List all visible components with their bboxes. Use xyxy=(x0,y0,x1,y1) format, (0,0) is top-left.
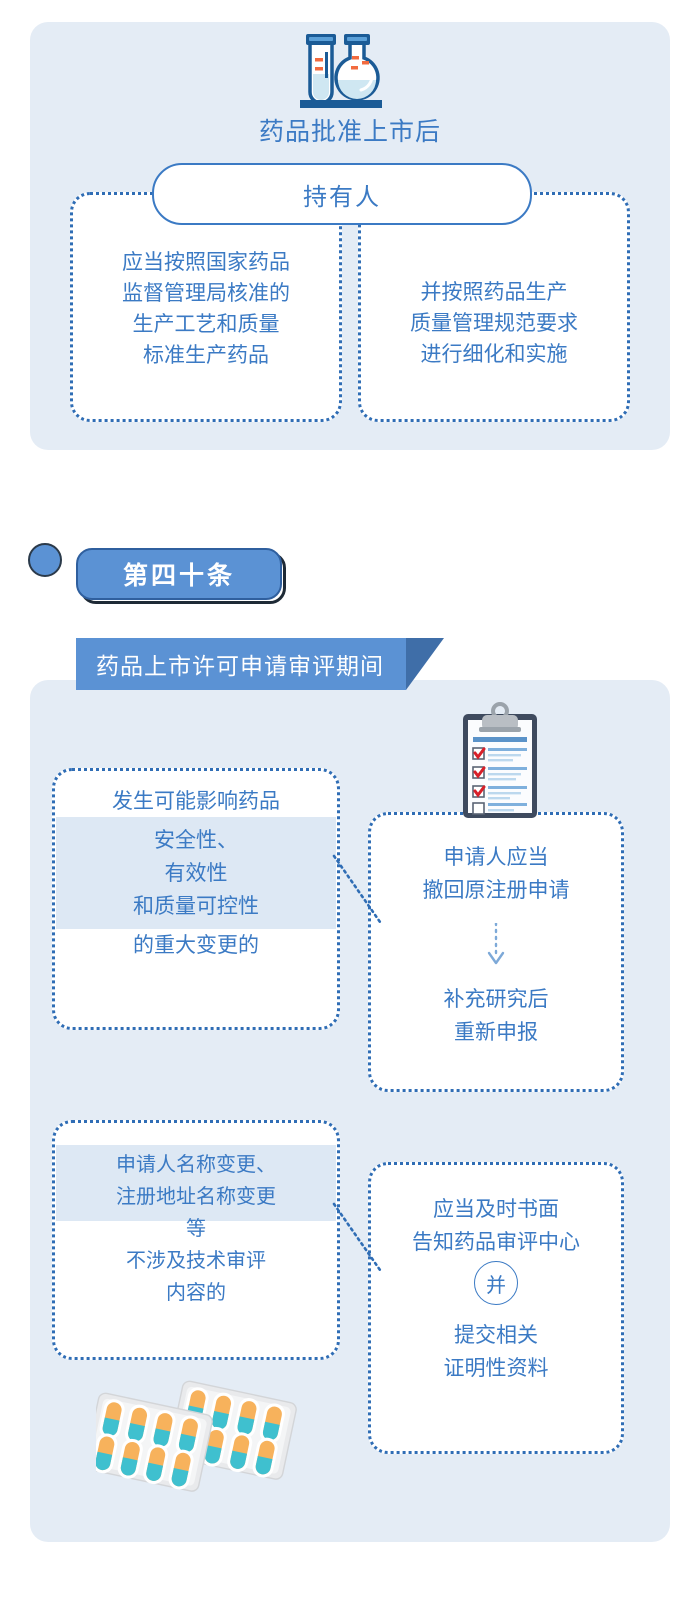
section-one-left-text: 应当按照国家药品 监督管理局核准的 生产工艺和质量 标准生产药品 xyxy=(73,247,339,371)
text-line: 注册地址名称变更 xyxy=(55,1181,337,1213)
text-line: 应当及时书面 xyxy=(371,1193,621,1226)
text-line: 标准生产药品 xyxy=(73,340,339,371)
text-line: 和质量可控性 xyxy=(55,890,337,923)
section-one-title: 药品批准上市后 xyxy=(30,112,670,148)
text-line: 安全性、 xyxy=(55,824,337,857)
circled-conjunction: 并 xyxy=(474,1261,518,1305)
dotted-down-arrow-icon xyxy=(371,923,621,967)
text-line: 提交相关 xyxy=(371,1319,621,1352)
test-tube-flask-icon xyxy=(292,30,388,110)
text-line: 重新申报 xyxy=(371,1016,621,1049)
text-line: 等 xyxy=(55,1213,337,1245)
box-notify-center: 应当及时书面 告知药品审评中心 并 提交相关 证明性资料 xyxy=(368,1162,624,1454)
clipboard-checklist-icon xyxy=(455,700,545,822)
text-line: 应当按照国家药品 xyxy=(73,247,339,278)
article-badge: 第四十条 xyxy=(76,548,282,600)
section-one-right-text: 并按照药品生产 质量管理规范要求 进行细化和实施 xyxy=(361,277,627,370)
section-one-right-box: 并按照药品生产 质量管理规范要求 进行细化和实施 xyxy=(358,192,630,422)
text-line: 补充研究后 xyxy=(371,983,621,1016)
section-two-banner: 药品上市许可申请审评期间 xyxy=(76,638,444,690)
text-line: 申请人应当 xyxy=(371,841,621,874)
text-line: 进行细化和实施 xyxy=(361,339,627,370)
text-line: 证明性资料 xyxy=(371,1352,621,1385)
text-line: 申请人名称变更、 xyxy=(55,1149,337,1181)
text-line: 发生可能影响药品 xyxy=(55,785,337,818)
text-line: 内容的 xyxy=(55,1277,337,1309)
bullet-dot-icon xyxy=(28,543,62,577)
pill-blister-pack-icon xyxy=(96,1362,306,1512)
box-major-change: 发生可能影响药品 安全性、 有效性 和质量可控性 的重大变更的 xyxy=(52,768,340,1030)
text-line: 不涉及技术审评 xyxy=(55,1245,337,1277)
text-line: 生产工艺和质量 xyxy=(73,309,339,340)
section-two-banner-label: 药品上市许可申请审评期间 xyxy=(76,638,406,690)
text-line: 监督管理局核准的 xyxy=(73,278,339,309)
box-name-change: 申请人名称变更、 注册地址名称变更 等 不涉及技术审评 内容的 xyxy=(52,1120,340,1360)
text-line: 质量管理规范要求 xyxy=(361,308,627,339)
box-withdraw-application: 申请人应当 撤回原注册申请 补充研究后 重新申报 xyxy=(368,812,624,1092)
text-line: 有效性 xyxy=(55,857,337,890)
banner-fold-icon xyxy=(406,638,444,690)
article-badge-wrap: 第四十条 xyxy=(76,548,286,604)
text-line: 的重大变更的 xyxy=(55,929,337,962)
section-one-left-box: 应当按照国家药品 监督管理局核准的 生产工艺和质量 标准生产药品 xyxy=(70,192,342,422)
text-line: 并按照药品生产 xyxy=(361,277,627,308)
holder-label-pill: 持有人 xyxy=(152,163,532,225)
text-line: 告知药品审评中心 xyxy=(371,1226,621,1259)
text-line: 撤回原注册申请 xyxy=(371,874,621,907)
